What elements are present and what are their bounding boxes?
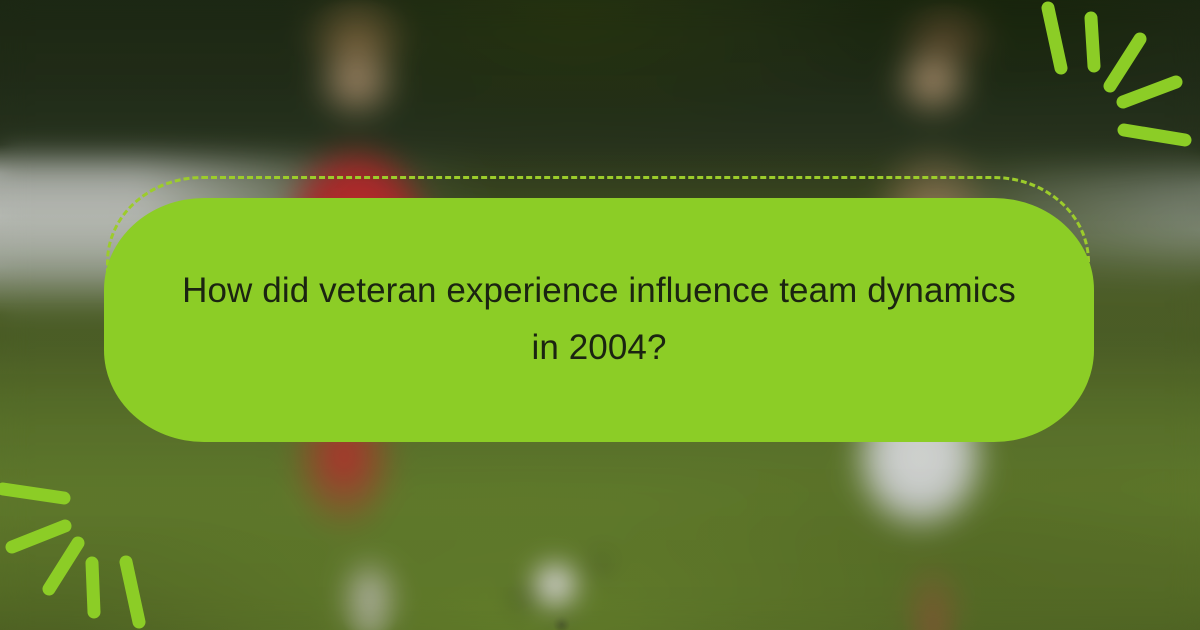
card-body: How did veteran experience influence tea… bbox=[104, 198, 1094, 442]
sparkle-burst-icon-bottom-left bbox=[0, 444, 184, 630]
social-card-canvas: How did veteran experience influence tea… bbox=[0, 0, 1200, 630]
question-card: How did veteran experience influence tea… bbox=[104, 176, 1094, 446]
sparkle-burst-icon-top-right bbox=[1004, 0, 1194, 186]
question-text: How did veteran experience influence tea… bbox=[174, 263, 1024, 376]
